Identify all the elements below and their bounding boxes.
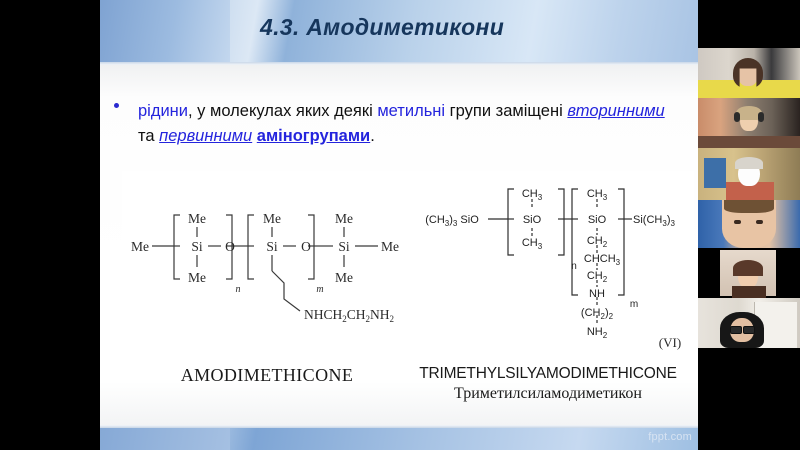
svg-text:CH2: CH2 [587,235,608,249]
svg-text:O: O [225,239,235,254]
caption-trimethylsilylamodimethicone: TRIMETHYLSILYAMODIMETHICONE Триметилсила… [400,365,696,403]
video-tile-participant-4[interactable] [698,200,800,248]
svg-text:SiO: SiO [523,214,542,226]
svg-text:CH3: CH3 [522,237,543,251]
label-trimethylsiloxy-left: (CH3)3 SiO [425,214,479,228]
svg-text:Me: Me [188,211,206,226]
slide-body: рідини, у молекулах яких деякі метильні … [100,65,698,425]
bullet-paragraph: рідини, у молекулах яких деякі метильні … [114,99,674,149]
header-accent-block [100,0,230,62]
svg-text:Si: Si [338,239,350,254]
presentation-slide: 4.3. Амодиметикони рідини, у молекулах я… [100,0,698,450]
svg-text:Si: Si [191,239,203,254]
caption-right-en: TRIMETHYLSILYAMODIMETHICONE [400,365,696,383]
label-roman-vi: (VI) [659,335,681,350]
slide-title: 4.3. Амодиметикони [260,14,504,41]
structure-trimethylsilylamodimethicone: (CH3)3 SiO CH3 SiO CH3 n CH3 SiO CH2 CHC… [422,171,694,361]
label-trimethylsilyl-right: Si(CH3)3 [633,214,675,228]
bullet-seg-ridyny: рідини [138,102,188,120]
svg-text:CH3: CH3 [522,188,543,202]
bullet-text: рідини, у молекулах яких деякі метильні … [138,99,674,149]
bullet-seg-aminohrupamy: аміногрупами [257,127,370,145]
svg-text:NH2: NH2 [587,326,608,340]
svg-text:Si: Si [266,239,278,254]
video-tile-participant-2[interactable] [698,98,800,148]
bullet-seg-6: та [138,127,159,145]
svg-text:Me: Me [335,211,353,226]
bullet-seg-2: , у молекулах яких деякі [188,102,377,120]
bullet-seg-metylni: метильні [377,102,445,120]
svg-text:CH3: CH3 [587,188,608,202]
bullet-seg-10: . [370,127,375,145]
structure-amodimethicone: Me Si Me Me O Si Me O Si Me Me Me n m [122,171,422,351]
bullet-seg-pervynnymy: первинними [159,127,252,145]
svg-text:Me: Me [335,270,353,285]
svg-text:Me: Me [263,211,281,226]
svg-text:SiO: SiO [588,214,607,226]
caption-right-ua: Триметилсиламодиметикон [400,385,696,403]
svg-text:n: n [571,261,577,272]
video-tile-participant-1[interactable] [698,48,800,98]
bullet-dot-icon [114,103,119,108]
svg-text:Me: Me [188,270,206,285]
video-tile-participant-3[interactable] [698,148,800,200]
caption-amodimethicone: AMODIMETHICONE [122,365,412,386]
label-me-left: Me [131,239,149,254]
svg-text:O: O [301,239,311,254]
bullet-seg-vtorynnymy: вторинними [567,102,664,120]
slide-footer-band [100,428,698,450]
svg-text:m: m [630,299,638,310]
video-tile-participant-6[interactable] [698,298,800,348]
video-participants-panel [698,0,800,450]
label-me-right: Me [381,239,399,254]
label-side-chain: NHCH2CH2NH2 [304,307,394,324]
screen: 4.3. Амодиметикони рідини, у молекулах я… [0,0,800,450]
svg-text:NH: NH [589,288,605,300]
svg-text:CH2: CH2 [587,270,608,284]
footer-accent-block [100,428,230,450]
svg-text:(CH2)2: (CH2)2 [581,307,614,321]
fppt-watermark: fppt.com [648,431,692,443]
svg-text:m: m [316,284,323,295]
svg-text:CHCH3: CHCH3 [584,253,621,267]
video-tile-participant-5[interactable] [698,248,800,298]
bullet-seg-4: групи заміщені [445,102,567,120]
svg-text:n: n [236,284,241,295]
